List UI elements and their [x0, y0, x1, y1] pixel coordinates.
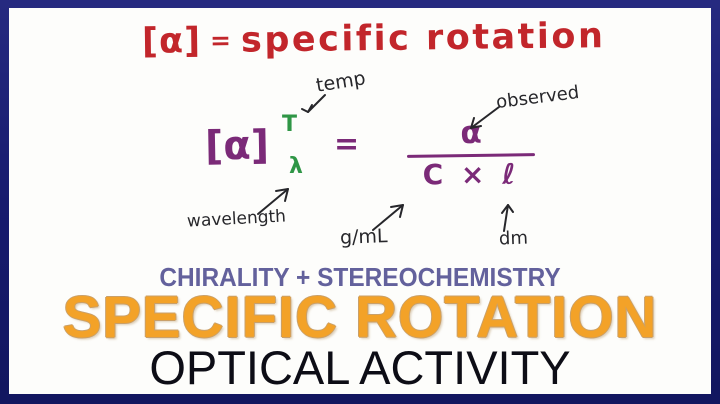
- formula-subscript-wavelength: λ: [289, 156, 303, 178]
- headline-handwriting: [α]=specific rotation: [142, 19, 606, 60]
- arrow-to-observed-icon: [461, 104, 503, 138]
- headline-alpha: α: [159, 21, 185, 61]
- formula-superscript-temperature: T: [282, 114, 297, 136]
- whiteboard-surface: [α]=specific rotation [α] T λ = α C × ℓ …: [9, 8, 711, 394]
- annotation-observed: observed: [495, 84, 580, 112]
- headline-bracket-close: ]: [184, 21, 201, 61]
- formula-bracket-open: [: [205, 123, 224, 169]
- formula-equals: =: [334, 130, 359, 160]
- footer-title-optical-activity: OPTICAL ACTIVITY: [9, 343, 711, 394]
- headline-bracket-open: [: [142, 22, 159, 62]
- headline-equals: =: [201, 26, 241, 55]
- arrow-to-temperature-icon: [298, 92, 332, 120]
- arrow-to-path-length-icon: [492, 200, 518, 234]
- headline-text: specific rotation: [241, 16, 606, 60]
- formula-bracket-close: ]: [250, 122, 269, 168]
- title-block: CHIRALITY + STEREOCHEMISTRY SPECIFIC ROT…: [9, 264, 711, 395]
- main-title-specific-rotation: SPECIFIC ROTATION: [9, 288, 711, 347]
- slide-canvas: [α]=specific rotation [α] T λ = α C × ℓ …: [0, 0, 720, 404]
- fraction-denominator: C × ℓ: [407, 160, 535, 189]
- formula-alpha: α: [223, 123, 251, 169]
- arrow-to-concentration-icon: [369, 200, 413, 234]
- arrow-to-wavelength-icon: [254, 184, 298, 218]
- formula-left-side: [α]: [205, 125, 270, 166]
